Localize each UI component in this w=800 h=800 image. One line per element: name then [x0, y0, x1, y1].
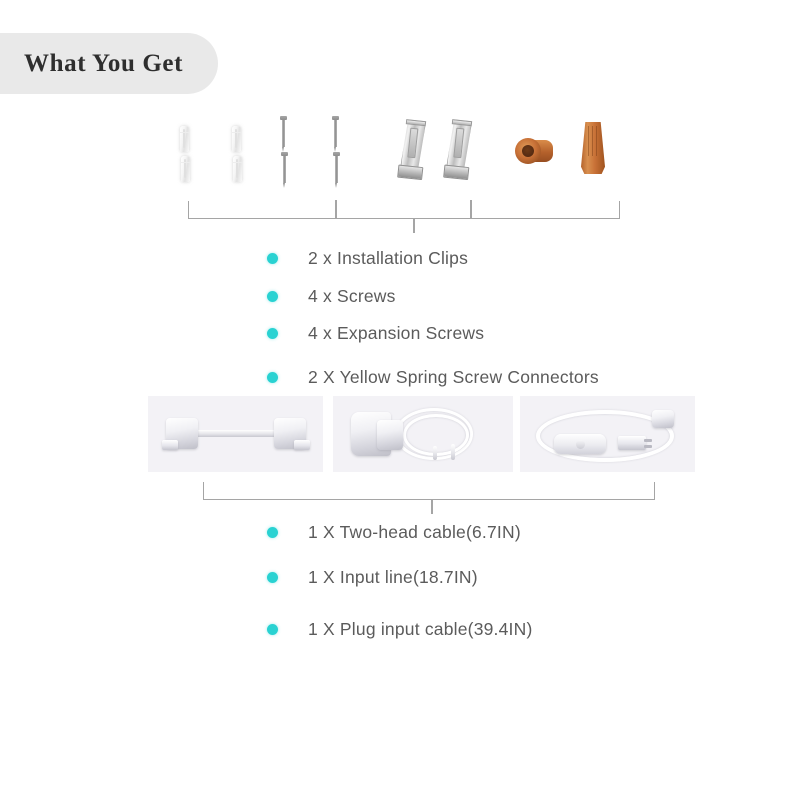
cable-bracket — [203, 482, 655, 500]
list-item-label: 2 X Yellow Spring Screw Connectors — [308, 367, 599, 388]
screw-icon — [333, 152, 340, 188]
expansion-anchor-icon — [232, 126, 241, 152]
screw-icon — [281, 152, 288, 188]
bracket-stem — [431, 499, 433, 514]
wire-nut-connector-icon — [515, 138, 553, 165]
list-item: 4 x Expansion Screws — [267, 323, 484, 344]
bracket-tick — [335, 200, 337, 218]
list-item-label: 2 x Installation Clips — [308, 248, 468, 269]
two-head-cable-art — [148, 396, 323, 472]
bracket-tick — [470, 200, 472, 218]
page-title: What You Get — [0, 50, 183, 78]
installation-clip-icon — [397, 119, 429, 183]
bullet-dot-icon — [267, 328, 278, 339]
expansion-anchor-icon — [180, 126, 189, 152]
list-item: 1 X Input line(18.7IN) — [267, 567, 478, 588]
installation-clip-icon — [443, 119, 475, 183]
hardware-photo-strip — [170, 112, 630, 194]
bullet-dot-icon — [267, 572, 278, 583]
screw-group — [280, 112, 360, 194]
expansion-anchor-icon — [233, 156, 242, 182]
list-item: 2 x Installation Clips — [267, 248, 468, 269]
hardware-bullet-list: 2 x Installation Clips 4 x Screws 4 x Ex… — [267, 248, 687, 388]
list-item: 1 X Plug input cable(39.4IN) — [267, 619, 532, 640]
input-line-photo — [333, 396, 513, 472]
list-item-label: 1 X Input line(18.7IN) — [308, 567, 478, 588]
list-item-label: 4 x Screws — [308, 286, 396, 307]
list-item: 1 X Two-head cable(6.7IN) — [267, 522, 521, 543]
bullet-dot-icon — [267, 624, 278, 635]
list-item: 2 X Yellow Spring Screw Connectors — [267, 367, 599, 388]
bullet-dot-icon — [267, 291, 278, 302]
bullet-dot-icon — [267, 253, 278, 264]
cable-bullet-list: 1 X Two-head cable(6.7IN) 1 X Input line… — [267, 522, 667, 652]
hardware-bracket — [188, 201, 620, 219]
bracket-stem — [413, 218, 415, 233]
list-item-label: 1 X Plug input cable(39.4IN) — [308, 619, 532, 640]
two-head-cable-photo — [148, 396, 323, 472]
installation-clip-group — [400, 112, 490, 194]
expansion-anchor-icon — [181, 156, 190, 182]
header-pill: What You Get — [0, 33, 218, 94]
wire-nut-connector-icon — [581, 122, 605, 174]
list-item: 4 x Screws — [267, 286, 396, 307]
bullet-dot-icon — [267, 372, 278, 383]
plug-input-cable-art — [520, 396, 695, 472]
expansion-anchor-group — [180, 112, 260, 194]
wire-connector-group — [515, 112, 630, 194]
screw-icon — [332, 116, 339, 152]
input-line-art — [333, 396, 513, 472]
plug-input-cable-photo — [520, 396, 695, 472]
list-item-label: 1 X Two-head cable(6.7IN) — [308, 522, 521, 543]
what-you-get-infographic: What You Get — [0, 0, 800, 800]
bullet-dot-icon — [267, 527, 278, 538]
list-item-label: 4 x Expansion Screws — [308, 323, 484, 344]
screw-icon — [280, 116, 287, 152]
